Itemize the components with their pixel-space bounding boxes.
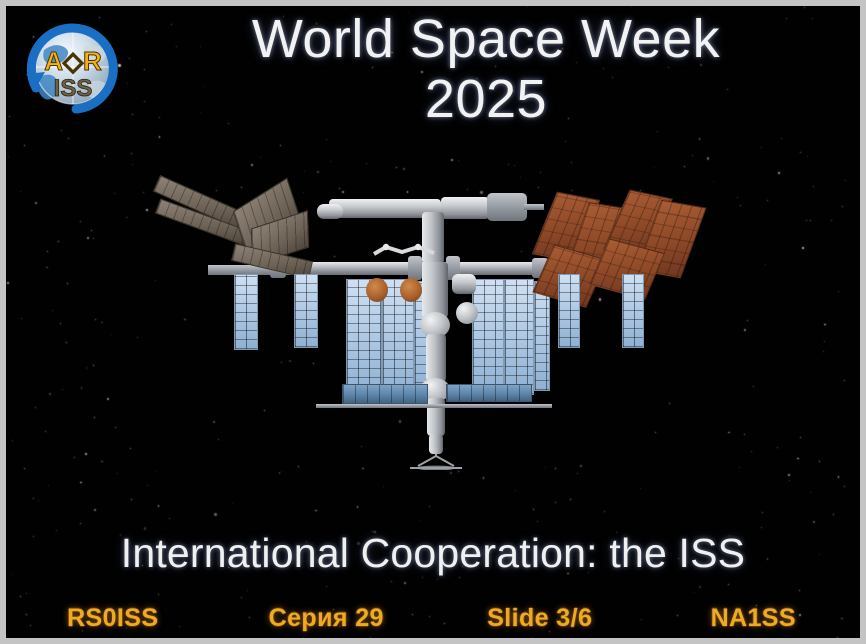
star — [80, 221, 81, 222]
star — [86, 367, 88, 369]
iss-docking-antennas — [402, 448, 470, 470]
star — [571, 162, 572, 163]
star — [739, 467, 740, 468]
star — [654, 167, 655, 168]
iss-radiator-left-inner — [294, 274, 318, 348]
iss-soyuz-spacecraft-left — [366, 278, 388, 302]
star — [107, 398, 109, 400]
star — [810, 220, 811, 221]
star — [728, 432, 730, 434]
star — [838, 476, 840, 478]
star — [420, 520, 421, 521]
star — [67, 283, 68, 284]
iss-russian-solar-panel-left — [342, 384, 428, 404]
star — [12, 440, 13, 441]
star — [81, 387, 83, 389]
star — [45, 431, 46, 432]
iss-illustration — [146, 186, 726, 471]
star — [833, 514, 834, 515]
star — [93, 238, 94, 239]
star — [251, 164, 253, 166]
star — [508, 164, 509, 165]
star — [844, 380, 845, 381]
star — [85, 453, 87, 455]
star — [845, 180, 846, 181]
iss-canadarm2 — [372, 243, 438, 259]
star — [737, 197, 738, 198]
star — [789, 480, 790, 481]
star — [753, 386, 754, 387]
star — [80, 523, 81, 524]
slide-title-line-2: 2025 — [136, 70, 836, 128]
star — [657, 131, 658, 132]
star — [761, 147, 762, 148]
star — [68, 138, 70, 140]
footer-row: RS0ISS Серия 29 Slide 3/6 NA1SS — [6, 598, 860, 638]
star — [747, 320, 748, 321]
star — [744, 434, 745, 435]
star — [699, 586, 701, 588]
star — [391, 581, 392, 582]
ariss-logo: A◇R ISS — [14, 12, 132, 124]
iss-module-destiny-lab — [422, 262, 448, 318]
iss-truss-joint-center-left — [408, 256, 422, 280]
footer-callsign-russian: RS0ISS — [6, 604, 220, 633]
star — [130, 448, 131, 449]
star — [110, 334, 111, 335]
slide-caption: International Cooperation: the ISS — [6, 529, 860, 577]
footer-slide-number: Slide 3/6 — [433, 604, 647, 633]
star — [66, 342, 67, 343]
star — [46, 267, 48, 269]
star — [24, 145, 25, 146]
iss-cupola — [456, 302, 478, 324]
star — [35, 407, 36, 408]
star — [35, 202, 37, 204]
star — [458, 471, 459, 472]
star — [762, 512, 763, 513]
star — [143, 192, 144, 193]
star — [403, 168, 405, 170]
star — [458, 160, 460, 162]
star — [565, 141, 566, 142]
star — [33, 498, 34, 499]
star — [844, 486, 845, 487]
star — [813, 186, 814, 187]
star — [819, 461, 820, 462]
star — [694, 592, 695, 593]
star — [537, 521, 538, 522]
star — [304, 171, 305, 172]
star — [61, 130, 62, 131]
iss-module-zarya — [426, 334, 446, 382]
iss-soyuz-spacecraft-right — [400, 278, 422, 302]
star — [357, 506, 359, 508]
star — [94, 509, 96, 511]
star — [781, 138, 782, 139]
star — [156, 471, 157, 472]
iss-module-harmony-upper — [441, 197, 489, 219]
iss-upper-boom — [524, 204, 544, 210]
star — [24, 468, 25, 469]
star — [604, 511, 605, 512]
star — [777, 447, 778, 448]
star — [317, 171, 319, 173]
star — [765, 264, 766, 265]
star — [451, 159, 453, 161]
iss-radiator-left-outer — [234, 274, 258, 350]
star — [126, 217, 128, 219]
star — [95, 319, 96, 320]
star — [20, 191, 21, 192]
star — [437, 579, 438, 580]
iss-russian-solar-panel-right — [446, 384, 532, 402]
star — [330, 161, 331, 162]
star — [800, 152, 801, 153]
iss-solar-array-starboard-3 — [534, 281, 550, 391]
star — [823, 351, 824, 352]
sstv-slide-frame: A◇R ISS World Space Week 2025 — [0, 0, 866, 644]
footer-series: Серия 29 — [220, 604, 434, 633]
star — [778, 172, 780, 174]
sstv-image-canvas: A◇R ISS World Space Week 2025 — [6, 6, 860, 638]
star — [8, 156, 9, 157]
star — [74, 457, 75, 458]
star — [48, 485, 49, 486]
star — [58, 241, 59, 242]
star — [117, 473, 118, 474]
star — [459, 577, 460, 578]
star — [533, 509, 534, 510]
star — [699, 138, 701, 140]
star — [279, 472, 281, 474]
star — [429, 506, 430, 507]
star — [232, 503, 233, 504]
iss-russian-panel-boom — [316, 404, 552, 408]
star — [214, 513, 216, 515]
star — [514, 165, 515, 166]
star — [806, 220, 807, 221]
star — [282, 471, 283, 472]
star — [515, 490, 516, 491]
star — [9, 116, 10, 117]
star — [38, 500, 39, 501]
star — [797, 458, 799, 460]
star — [104, 155, 106, 157]
star — [807, 156, 809, 158]
star — [813, 521, 815, 523]
star — [260, 157, 261, 158]
star — [87, 237, 89, 239]
star — [158, 594, 159, 595]
iss-solar-array-starboard-2 — [504, 279, 534, 395]
iss-radiator-right-inner — [558, 274, 580, 348]
ariss-logo-text-bottom: ISS — [54, 75, 93, 102]
star — [247, 590, 248, 591]
star — [147, 485, 148, 486]
footer-callsign-us: NA1SS — [647, 604, 861, 633]
star — [169, 518, 170, 519]
ariss-logo-text-top: A◇R — [44, 46, 102, 76]
star — [159, 136, 161, 138]
star — [450, 472, 452, 474]
star — [684, 166, 685, 167]
star — [707, 157, 709, 159]
star — [47, 251, 48, 252]
star — [131, 499, 132, 500]
iss-upper-node-cluster — [487, 193, 527, 221]
star — [52, 310, 53, 311]
iss-radiator-right-outer — [622, 274, 644, 348]
star — [94, 417, 95, 418]
star — [824, 341, 825, 342]
iss-module-columbus — [317, 204, 343, 219]
star — [396, 167, 397, 168]
star — [540, 172, 541, 173]
star — [842, 206, 843, 207]
star — [570, 499, 571, 500]
star — [404, 582, 406, 584]
star — [131, 153, 132, 154]
star — [93, 365, 94, 366]
star — [158, 505, 160, 507]
star — [838, 291, 839, 292]
slide-title-line-1: World Space Week — [136, 8, 836, 70]
star — [751, 451, 752, 452]
star — [831, 220, 832, 221]
star — [115, 427, 116, 428]
star — [788, 474, 790, 476]
star — [132, 164, 133, 165]
star — [692, 155, 693, 156]
star — [744, 329, 746, 331]
star — [326, 586, 327, 587]
star — [800, 437, 801, 438]
star — [80, 482, 82, 484]
star — [483, 477, 485, 479]
iss-solar-array-starboard-1 — [472, 279, 504, 395]
star — [713, 181, 714, 182]
star — [802, 247, 804, 249]
star — [767, 200, 768, 201]
star — [520, 177, 521, 178]
star — [137, 337, 138, 338]
star — [799, 590, 800, 591]
star — [640, 488, 641, 489]
star — [740, 205, 741, 206]
slide-title: World Space Week 2025 — [136, 8, 836, 128]
star — [383, 486, 384, 487]
star — [7, 282, 9, 284]
star — [824, 324, 826, 326]
star — [366, 163, 367, 164]
star — [728, 584, 729, 585]
star — [114, 193, 115, 194]
star — [60, 323, 61, 324]
star — [21, 318, 22, 319]
star — [101, 322, 103, 324]
star — [326, 139, 327, 140]
star — [810, 492, 811, 493]
star — [91, 230, 92, 231]
star — [555, 502, 556, 503]
star — [577, 473, 578, 474]
star — [280, 145, 281, 146]
iss-module-pmm — [452, 274, 476, 294]
star — [101, 461, 103, 463]
star — [62, 389, 63, 390]
star — [49, 393, 51, 395]
star — [315, 510, 317, 512]
star — [26, 593, 27, 594]
